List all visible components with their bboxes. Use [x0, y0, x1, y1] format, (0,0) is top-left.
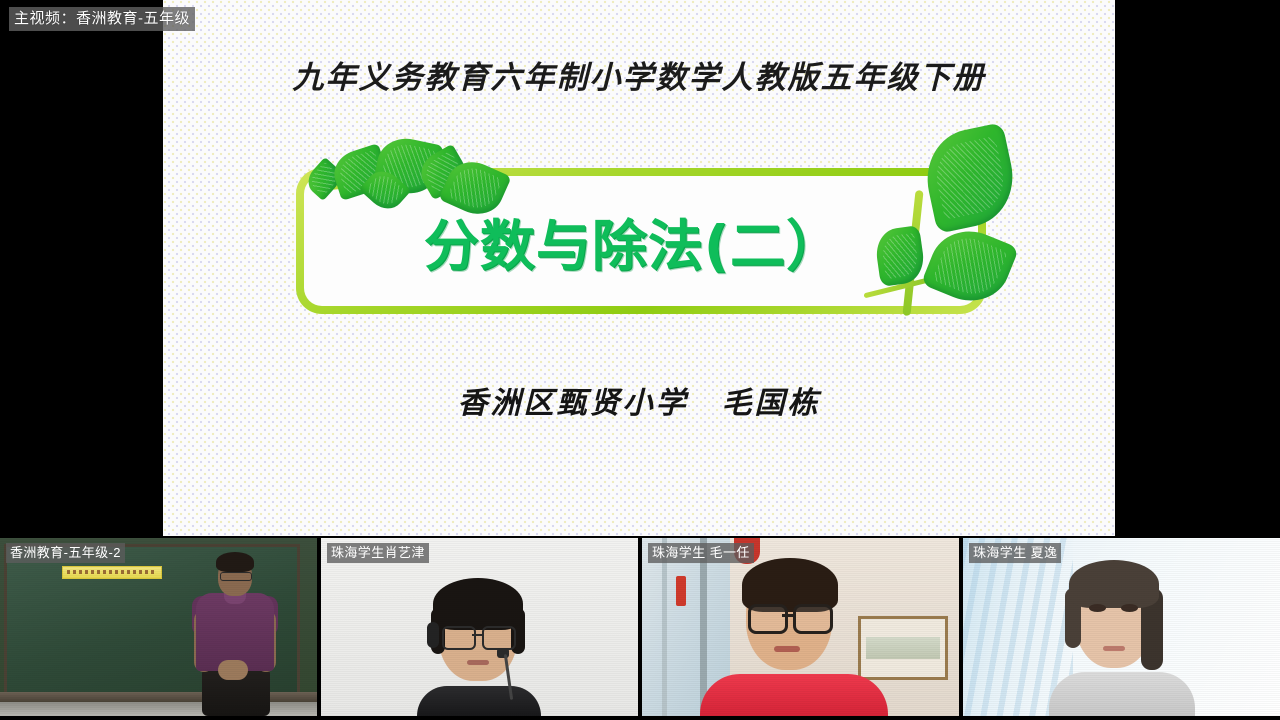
main-video-name-tag: 主视频：香洲教育-五年级	[9, 7, 195, 31]
participant-tile-teacher[interactable]: 香洲教育-五年级-2	[0, 538, 317, 716]
leaf-icon	[918, 122, 1022, 234]
participant-filmstrip: 香洲教育-五年级-2 珠海学生肖艺津	[0, 538, 1280, 716]
video-feed	[321, 538, 638, 716]
video-feed	[642, 538, 959, 716]
participant-tile-student-2[interactable]: 珠海学生 毛一任	[642, 538, 959, 716]
participant-tile-student-3[interactable]: 珠海学生 夏逸	[963, 538, 1280, 716]
participant-name-tag: 珠海学生肖艺津	[327, 543, 429, 563]
video-conference-view: 九年义务教育六年制小学数学人教版五年级下册 分数与除法(二） 香洲区甄贤小学 毛…	[0, 0, 1280, 720]
participant-name-tag: 珠海学生 夏逸	[969, 543, 1061, 563]
slide-subtitle: 香洲区甄贤小学 毛国栋	[163, 378, 1115, 422]
video-feed	[963, 538, 1280, 716]
participant-name-tag: 珠海学生 毛一任	[648, 543, 754, 563]
main-video-stage[interactable]: 九年义务教育六年制小学数学人教版五年级下册 分数与除法(二） 香洲区甄贤小学 毛…	[0, 0, 1280, 536]
bottom-letterbox	[0, 716, 1280, 720]
participant-name-tag: 香洲教育-五年级-2	[6, 543, 125, 563]
presentation-slide[interactable]: 九年义务教育六年制小学数学人教版五年级下册 分数与除法(二） 香洲区甄贤小学 毛…	[163, 0, 1115, 536]
video-feed	[0, 538, 317, 716]
participant-tile-student-1[interactable]: 珠海学生肖艺津	[321, 538, 638, 716]
slide-header-text: 九年义务教育六年制小学数学人教版五年级下册	[163, 52, 1115, 97]
